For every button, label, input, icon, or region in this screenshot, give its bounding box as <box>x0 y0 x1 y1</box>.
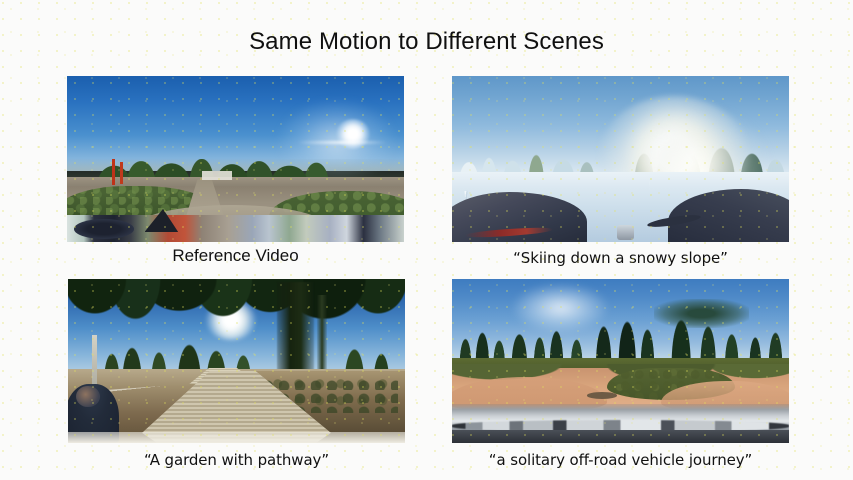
panel-caption-reference-video: Reference Video <box>67 246 404 266</box>
panel-caption-garden-with-pathway: “A garden with pathway” <box>68 451 405 469</box>
slide-canvas: Same Motion to Different Scenes Referenc… <box>0 0 853 480</box>
video-panel-reference-video[interactable] <box>67 76 404 242</box>
track-rock <box>587 392 617 399</box>
page-title: Same Motion to Different Scenes <box>0 28 853 56</box>
nadir-camera-mount <box>617 225 634 240</box>
white-building <box>202 171 232 179</box>
lens-flare-streak <box>297 141 387 144</box>
video-panel-garden-with-pathway[interactable] <box>68 279 405 443</box>
pine-forest-layer <box>452 309 789 365</box>
nadir-crossbar <box>452 430 789 443</box>
panel-caption-skiing-snowy-slope: “Skiing down a snowy slope” <box>452 249 789 267</box>
nadir-dark-blob <box>74 219 135 239</box>
nadir-band <box>68 432 405 443</box>
person-head <box>76 386 100 407</box>
video-panel-off-road-vehicle-journey[interactable] <box>452 279 789 443</box>
red-sculpture-pillar-2 <box>120 162 123 184</box>
red-sculpture-pillar-1 <box>112 159 115 185</box>
video-panel-skiing-snowy-slope[interactable] <box>452 76 789 242</box>
zenith-canopy-layer <box>68 279 405 322</box>
panel-caption-off-road-vehicle-journey: “a solitary off-road vehicle journey” <box>452 451 789 469</box>
